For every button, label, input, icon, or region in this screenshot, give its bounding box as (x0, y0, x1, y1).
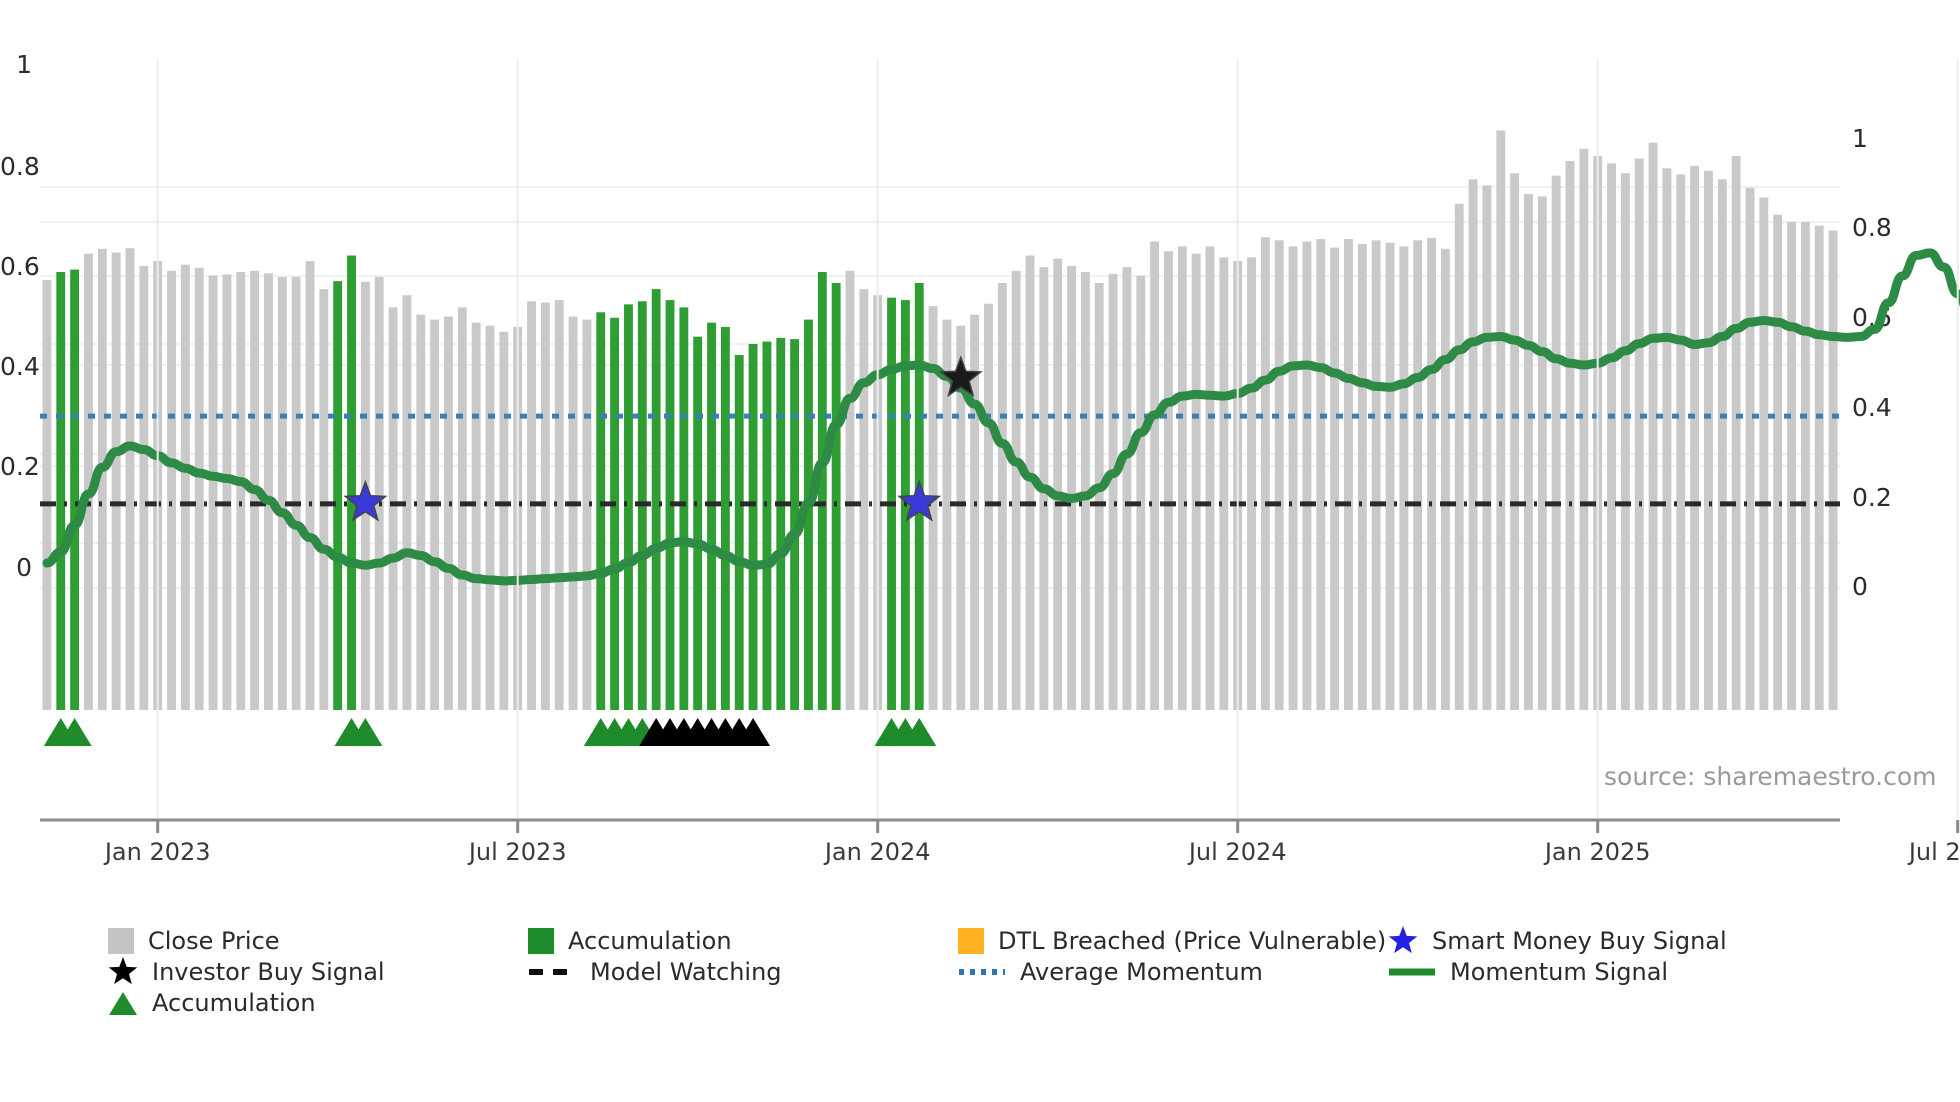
accumulation-triangle-row (44, 718, 936, 746)
close-price-bar (1773, 215, 1782, 710)
close-price-bar (1815, 226, 1824, 710)
close-price-bar (1219, 257, 1228, 710)
close-price-bar (139, 266, 148, 710)
close-price-bar (1524, 194, 1533, 710)
legend-swatch-square-icon (108, 928, 134, 954)
close-price-bar (1344, 239, 1353, 710)
close-price-bar (222, 274, 231, 710)
close-price-bar (1372, 240, 1381, 710)
accumulation-bar (333, 281, 342, 710)
legend-close-price[interactable]: Close Price (108, 925, 528, 956)
close-price-bar (1275, 240, 1284, 710)
close-price-bar (472, 323, 481, 710)
y-axis-left-tick: 0.6 (0, 252, 32, 281)
legend-accumulation-bar[interactable]: Accumulation (528, 925, 958, 956)
close-price-bar (1095, 283, 1104, 710)
accumulation-bar (749, 344, 758, 710)
close-price-bar (1607, 163, 1616, 710)
close-price-bar (998, 283, 1007, 710)
close-price-bar (1469, 179, 1478, 710)
accumulation-bar (707, 323, 716, 710)
y-axis-left-tick: 0.2 (0, 452, 32, 481)
accumulation-bar (70, 270, 79, 710)
close-price-bar (1538, 196, 1547, 710)
close-price-bar (569, 317, 578, 710)
close-price-bar (1746, 188, 1755, 710)
close-price-bar (126, 248, 135, 710)
close-price-bar (1192, 254, 1201, 710)
close-price-bar (430, 320, 439, 710)
close-price-bar (486, 326, 495, 710)
y-axis-left-tick: 1 (0, 50, 32, 79)
close-price-bar (1579, 149, 1588, 710)
accumulation-bar (56, 272, 65, 710)
close-price-bar (582, 320, 591, 710)
close-price-bar (1386, 243, 1395, 710)
close-price-bar (42, 280, 51, 710)
close-price-bar (209, 276, 218, 710)
close-price-bar (278, 277, 287, 710)
legend-item-label: Momentum Signal (1450, 960, 1668, 984)
legend-item-label: Model Watching (590, 960, 782, 984)
close-price-bar (306, 261, 315, 710)
accumulation-bar (624, 304, 633, 710)
close-price-bar (1455, 204, 1464, 710)
close-price-bar (1136, 276, 1145, 710)
legend-swatch-solid-line-icon (1388, 965, 1436, 979)
x-axis-tick-label: Jan 2024 (798, 838, 958, 866)
close-price-bar (389, 307, 398, 710)
accumulation-bar (818, 272, 827, 710)
close-price-bar (1510, 173, 1519, 710)
close-price-bar (416, 315, 425, 710)
chart-page: 1 0.8 0.6 0.4 0.2 0 1 0.8 0.6 0.4 0.2 0 … (0, 0, 1960, 1102)
accumulation-bar (596, 312, 605, 710)
legend-investor-buy-signal[interactable]: Investor Buy Signal (108, 956, 528, 987)
close-price-bar (264, 273, 273, 710)
plot-area (40, 60, 1840, 710)
close-price-bar (458, 307, 467, 710)
legend-momentum-signal[interactable]: Momentum Signal (1388, 956, 1808, 987)
close-price-bar (1302, 242, 1311, 710)
close-price-bar (1316, 239, 1325, 710)
legend-swatch-triangle-icon (108, 990, 138, 1016)
legend-swatch-dashed-line-icon (528, 965, 576, 979)
close-price-bar (1399, 246, 1408, 710)
legend-average-momentum[interactable]: Average Momentum (958, 956, 1388, 987)
y-axis-right-tick: 0.8 (1852, 213, 1892, 242)
x-axis-tick-label: Jan 2025 (1518, 838, 1678, 866)
legend-item-label: DTL Breached (Price Vulnerable) (998, 929, 1386, 953)
chart-canvas (40, 60, 1840, 710)
y-axis-right-tick: 0.4 (1852, 393, 1892, 422)
x-axis-tick-label: Jul 2024 (1158, 838, 1318, 866)
close-price-bar (1206, 246, 1215, 710)
close-price-bar (1566, 161, 1575, 710)
close-price-bar (1552, 176, 1561, 710)
legend-smart-money-buy-signal[interactable]: Smart Money Buy Signal (1388, 925, 1808, 956)
x-axis-tick-label: Jul 2025 (1878, 838, 1960, 866)
close-price-bar (1261, 237, 1270, 710)
legend-item-label: Investor Buy Signal (152, 960, 385, 984)
close-price-bar (1164, 251, 1173, 710)
source-attribution: source: sharemaestro.com (1604, 762, 1937, 791)
close-price-bar (375, 277, 384, 710)
y-axis-right-tick: 0 (1852, 572, 1868, 601)
close-price-bar (181, 265, 190, 710)
close-price-bar (1635, 159, 1644, 710)
y-axis-right-tick: 0.2 (1852, 483, 1892, 512)
close-price-bar (1150, 242, 1159, 710)
close-price-bar (859, 289, 868, 710)
close-price-bar (1759, 198, 1768, 710)
close-price-bar (1662, 168, 1671, 710)
legend-item-label: Accumulation (152, 991, 316, 1015)
close-price-bar (1649, 143, 1658, 710)
close-price-bar (984, 304, 993, 710)
close-price-bar (112, 253, 121, 711)
accumulation-bar (347, 256, 356, 710)
close-price-bar (1413, 240, 1422, 710)
legend-model-watching[interactable]: Model Watching (528, 956, 958, 987)
legend-swatch-dotted-line-icon (958, 965, 1006, 979)
accumulation-bar (652, 289, 661, 710)
accumulation-bar (610, 318, 619, 710)
close-price-bar (1690, 166, 1699, 710)
legend-item-label: Smart Money Buy Signal (1432, 929, 1727, 953)
close-price-bar (1621, 173, 1630, 710)
legend-item-label: Accumulation (568, 929, 732, 953)
close-price-bar (195, 268, 204, 710)
accumulation-bar (693, 337, 702, 710)
close-price-bar (1482, 185, 1491, 710)
close-price-bar (319, 289, 328, 710)
accumulation-bar (762, 342, 771, 710)
close-price-bar (1801, 222, 1810, 710)
close-price-bar (236, 272, 245, 710)
close-price-bar (1067, 266, 1076, 710)
close-price-bar (499, 332, 508, 710)
x-axis-tick-label: Jul 2023 (438, 838, 598, 866)
x-axis-tick-label: Jan 2023 (78, 838, 238, 866)
close-price-bar (1829, 231, 1838, 710)
accumulation-bar (735, 355, 744, 710)
close-price-bar (1012, 271, 1021, 710)
close-price-bar (1732, 156, 1741, 710)
close-price-bar (1358, 244, 1367, 710)
y-axis-right-tick: 1 (1852, 124, 1868, 153)
y-axis-left-tick: 0 (0, 553, 32, 582)
accumulation-bar (832, 283, 841, 710)
close-price-bar (1053, 259, 1062, 710)
close-price-bar (167, 271, 176, 710)
close-price-bar (1441, 249, 1450, 710)
close-price-bar (1178, 246, 1187, 710)
close-price-bar (1247, 257, 1256, 710)
chart-legend: Close Price Accumulation DTL Breached (P… (108, 925, 1928, 1018)
close-price-bar (292, 277, 301, 710)
close-price-bar (846, 271, 855, 710)
legend-dtl-breached[interactable]: DTL Breached (Price Vulnerable) (958, 925, 1388, 956)
close-price-bar (1122, 267, 1131, 710)
close-price-bar (1676, 174, 1685, 710)
close-price-bar (1787, 222, 1796, 710)
legend-swatch-square-icon (958, 928, 984, 954)
close-price-bar (1289, 246, 1298, 710)
close-price-bar (1109, 274, 1118, 710)
legend-swatch-square-icon (528, 928, 554, 954)
legend-swatch-star-icon (1388, 926, 1418, 956)
accumulation-bar (776, 338, 785, 710)
accumulation-bar (721, 327, 730, 710)
y-axis-left-tick: 0.8 (0, 152, 32, 181)
close-price-bar (1496, 131, 1505, 711)
close-price-bar (1718, 179, 1727, 710)
legend-accumulation-triangle[interactable]: Accumulation (108, 987, 528, 1018)
close-price-bar (1330, 248, 1339, 710)
legend-swatch-star-icon (108, 957, 138, 987)
x-axis-canvas (0, 700, 1960, 960)
close-price-bar (1704, 171, 1713, 710)
close-price-bars (42, 131, 1837, 711)
close-price-bar (1427, 238, 1436, 710)
close-price-bar (444, 317, 453, 710)
legend-item-label: Close Price (148, 929, 280, 953)
y-axis-left-tick: 0.4 (0, 352, 32, 381)
accumulation-bar (679, 307, 688, 710)
legend-item-label: Average Momentum (1020, 960, 1263, 984)
